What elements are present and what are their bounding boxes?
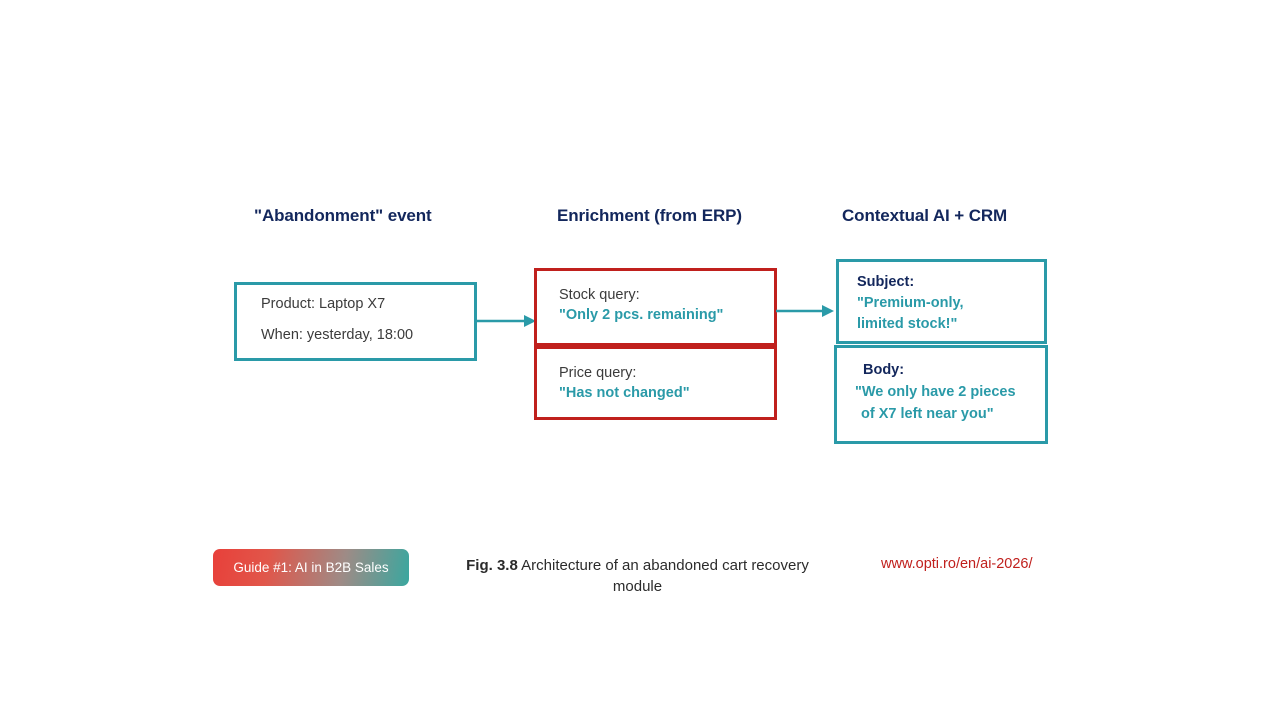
guide-badge-label: Guide #1: AI in B2B Sales bbox=[233, 560, 388, 575]
body-box: Body: "We only have 2 pieces of X7 left … bbox=[834, 345, 1048, 444]
price-query-value: "Has not changed" bbox=[559, 383, 774, 403]
arrow-event-to-enrichment-icon bbox=[474, 306, 540, 336]
event-when-line: When: yesterday, 18:00 bbox=[261, 328, 474, 342]
column-heading-crm: Contextual AI + CRM bbox=[842, 206, 1007, 226]
subject-value-line-2: limited stock!" bbox=[857, 314, 1044, 335]
price-query-label: Price query: bbox=[559, 363, 774, 383]
subject-value-line-1: "Premium-only, bbox=[857, 293, 1044, 314]
price-query-box: Price query: "Has not changed" bbox=[534, 346, 777, 420]
figure-caption-text: Architecture of an abandoned cart recove… bbox=[518, 557, 809, 595]
event-box: Product: Laptop X7 When: yesterday, 18:0… bbox=[234, 282, 477, 361]
event-product-line: Product: Laptop X7 bbox=[261, 297, 474, 311]
stock-query-value: "Only 2 pcs. remaining" bbox=[559, 305, 774, 325]
figure-number: Fig. 3.8 bbox=[466, 557, 518, 574]
arrow-enrichment-to-crm-icon bbox=[774, 296, 840, 326]
diagram-canvas: "Abandonment" event Enrichment (from ERP… bbox=[0, 0, 1280, 720]
guide-badge[interactable]: Guide #1: AI in B2B Sales bbox=[213, 549, 409, 586]
figure-caption: Fig. 3.8 Architecture of an abandoned ca… bbox=[455, 555, 820, 597]
body-value-line-1: "We only have 2 pieces bbox=[855, 381, 1045, 403]
body-label: Body: bbox=[855, 360, 1045, 381]
subject-box: Subject: "Premium-only, limited stock!" bbox=[836, 259, 1047, 344]
stock-query-box: Stock query: "Only 2 pcs. remaining" bbox=[534, 268, 777, 346]
column-heading-event: "Abandonment" event bbox=[254, 206, 432, 226]
stock-query-label: Stock query: bbox=[559, 285, 774, 305]
source-url-link[interactable]: www.opti.ro/en/ai-2026/ bbox=[881, 556, 1033, 572]
subject-label: Subject: bbox=[857, 272, 1044, 293]
column-heading-enrichment: Enrichment (from ERP) bbox=[557, 206, 742, 226]
body-value-line-2: of X7 left near you" bbox=[855, 403, 1045, 425]
